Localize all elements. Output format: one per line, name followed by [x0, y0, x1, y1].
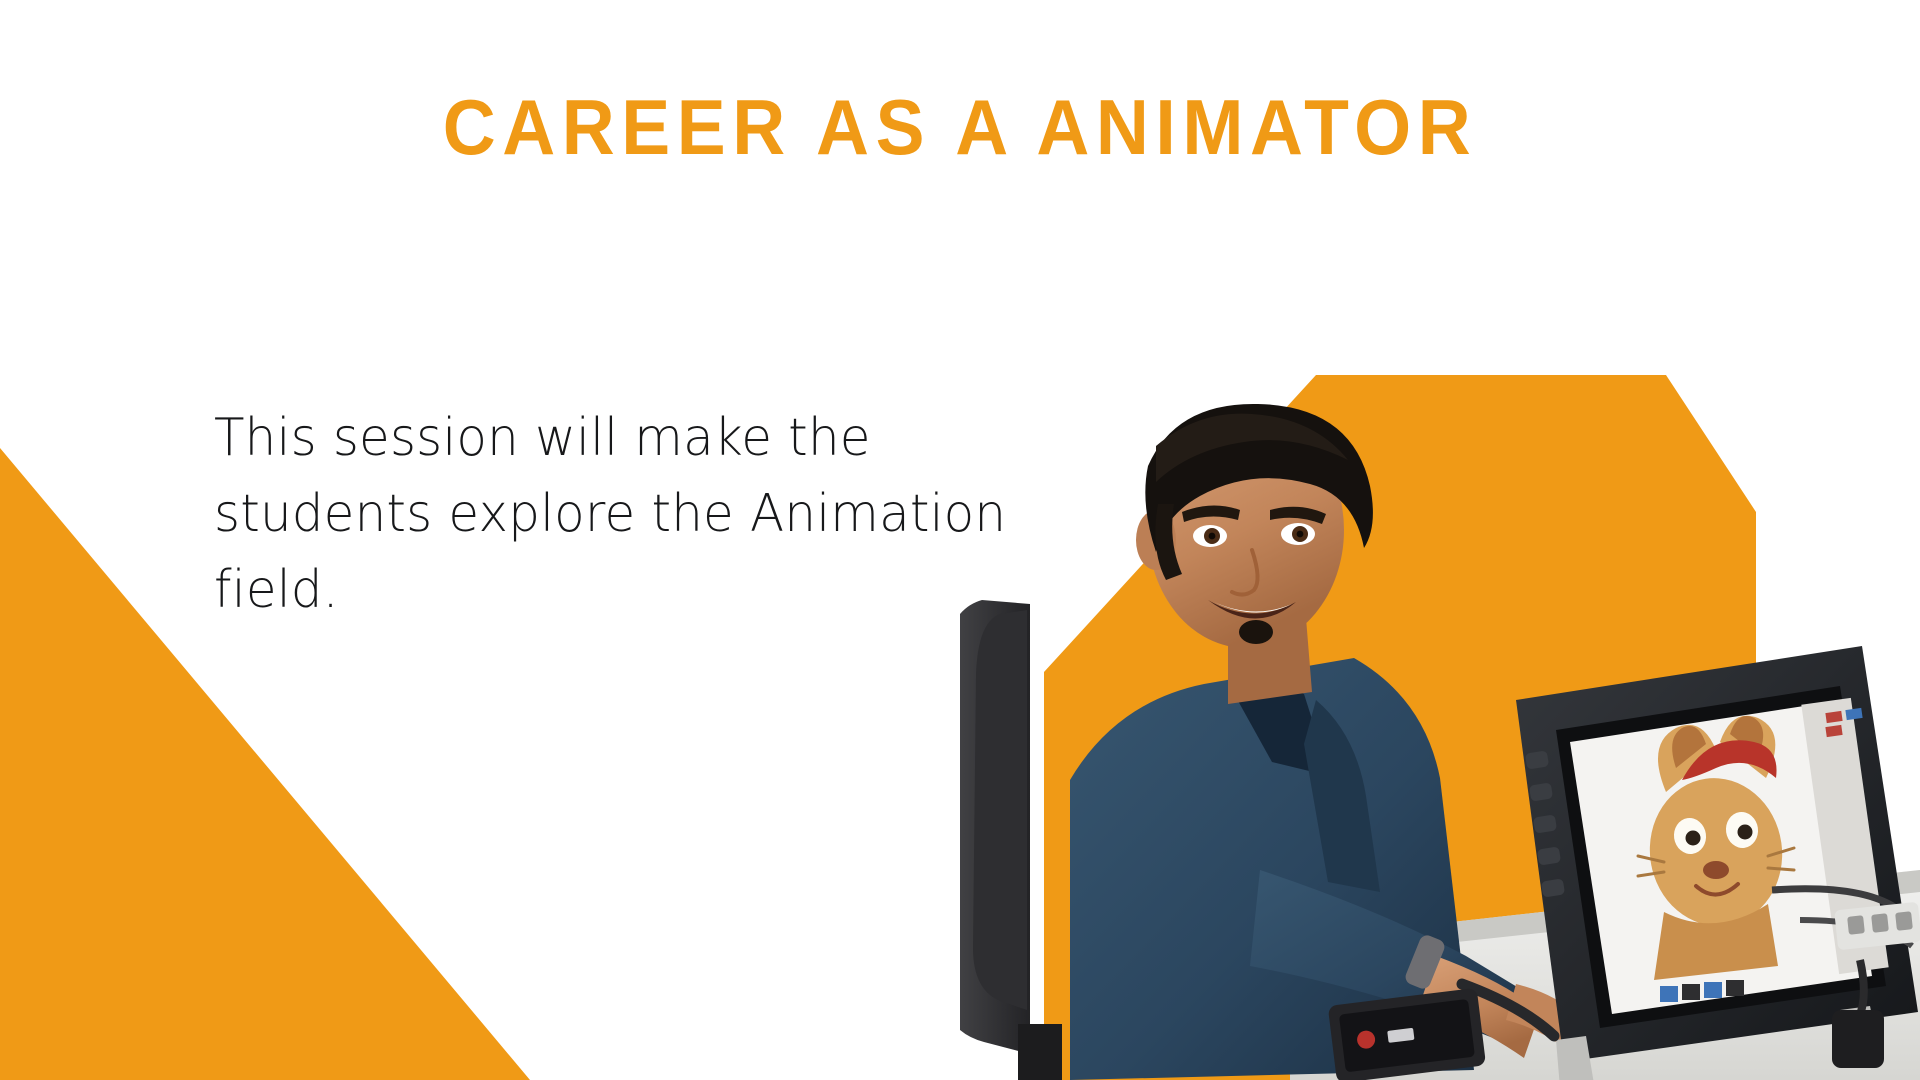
body-line-2: students explore the Animation: [214, 476, 1059, 552]
presentation-slide: CAREER AS A ANIMATOR This session will m…: [0, 0, 1920, 1080]
body-line-1: This session will make the: [214, 400, 1059, 476]
slide-body-text: This session will make the students expl…: [214, 400, 1059, 628]
cartoon-character-artwork: [1638, 716, 1794, 1002]
person-head: [1136, 404, 1373, 704]
slide-title: CAREER AS A ANIMATOR: [58, 88, 1863, 166]
animator-photo: [960, 400, 1920, 1080]
animator-photo-illustration: [960, 400, 1920, 1080]
office-chair: [960, 600, 1062, 1080]
body-line-3: field.: [214, 552, 1059, 628]
